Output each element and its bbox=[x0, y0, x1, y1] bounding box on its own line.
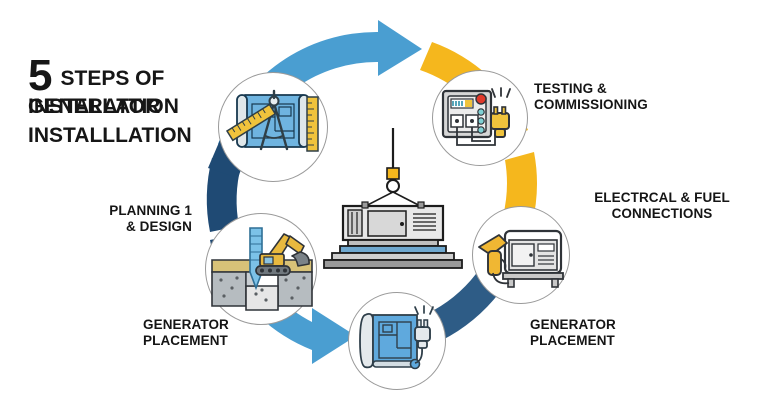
label-generator-placement-left-line1: GENERATOR bbox=[143, 317, 343, 333]
step-icon-generator-placement-left[interactable] bbox=[205, 213, 317, 325]
title-word-installation: INSTALLATION bbox=[28, 95, 179, 119]
label-generator-placement-right-line2: PLACEMENT bbox=[530, 333, 730, 349]
label-planning-design-line1: PLANNING 1 bbox=[72, 203, 192, 219]
label-generator-placement-left: GENERATOR PLACEMENT bbox=[143, 317, 343, 350]
label-electrical-fuel-line2: CONNECTIONS bbox=[564, 206, 760, 222]
label-electrical-fuel: ELECTRCAL & FUEL CONNECTIONS bbox=[564, 190, 760, 223]
label-testing-commissioning-line2: COMMISSIONING bbox=[534, 97, 754, 113]
label-planning-design: PLANNING 1 & DESIGN bbox=[72, 203, 192, 236]
label-testing-commissioning-line1: TESTING & bbox=[534, 81, 754, 97]
label-generator-placement-right: GENERATOR PLACEMENT bbox=[530, 317, 730, 350]
infographic-canvas: 5 STEPS OF GENERATOR INSTALLATION INSTAL… bbox=[0, 0, 768, 419]
label-planning-design-line2: & DESIGN bbox=[72, 219, 192, 235]
label-testing-commissioning: TESTING & COMMISSIONING bbox=[534, 81, 754, 114]
label-generator-placement-right-line1: GENERATOR bbox=[530, 317, 730, 333]
step-count-number: 5 bbox=[28, 58, 51, 94]
step-icon-planning-design[interactable] bbox=[218, 72, 328, 182]
step-icon-generator-placement-right[interactable] bbox=[348, 292, 446, 390]
label-generator-placement-left-line2: PLACEMENT bbox=[143, 333, 343, 349]
step-icon-electrical-fuel[interactable] bbox=[472, 206, 570, 304]
label-electrical-fuel-line1: ELECTRCAL & FUEL bbox=[564, 190, 760, 206]
title-steps-of: STEPS OF bbox=[60, 67, 164, 94]
step-icon-testing-commissioning[interactable] bbox=[432, 70, 528, 166]
